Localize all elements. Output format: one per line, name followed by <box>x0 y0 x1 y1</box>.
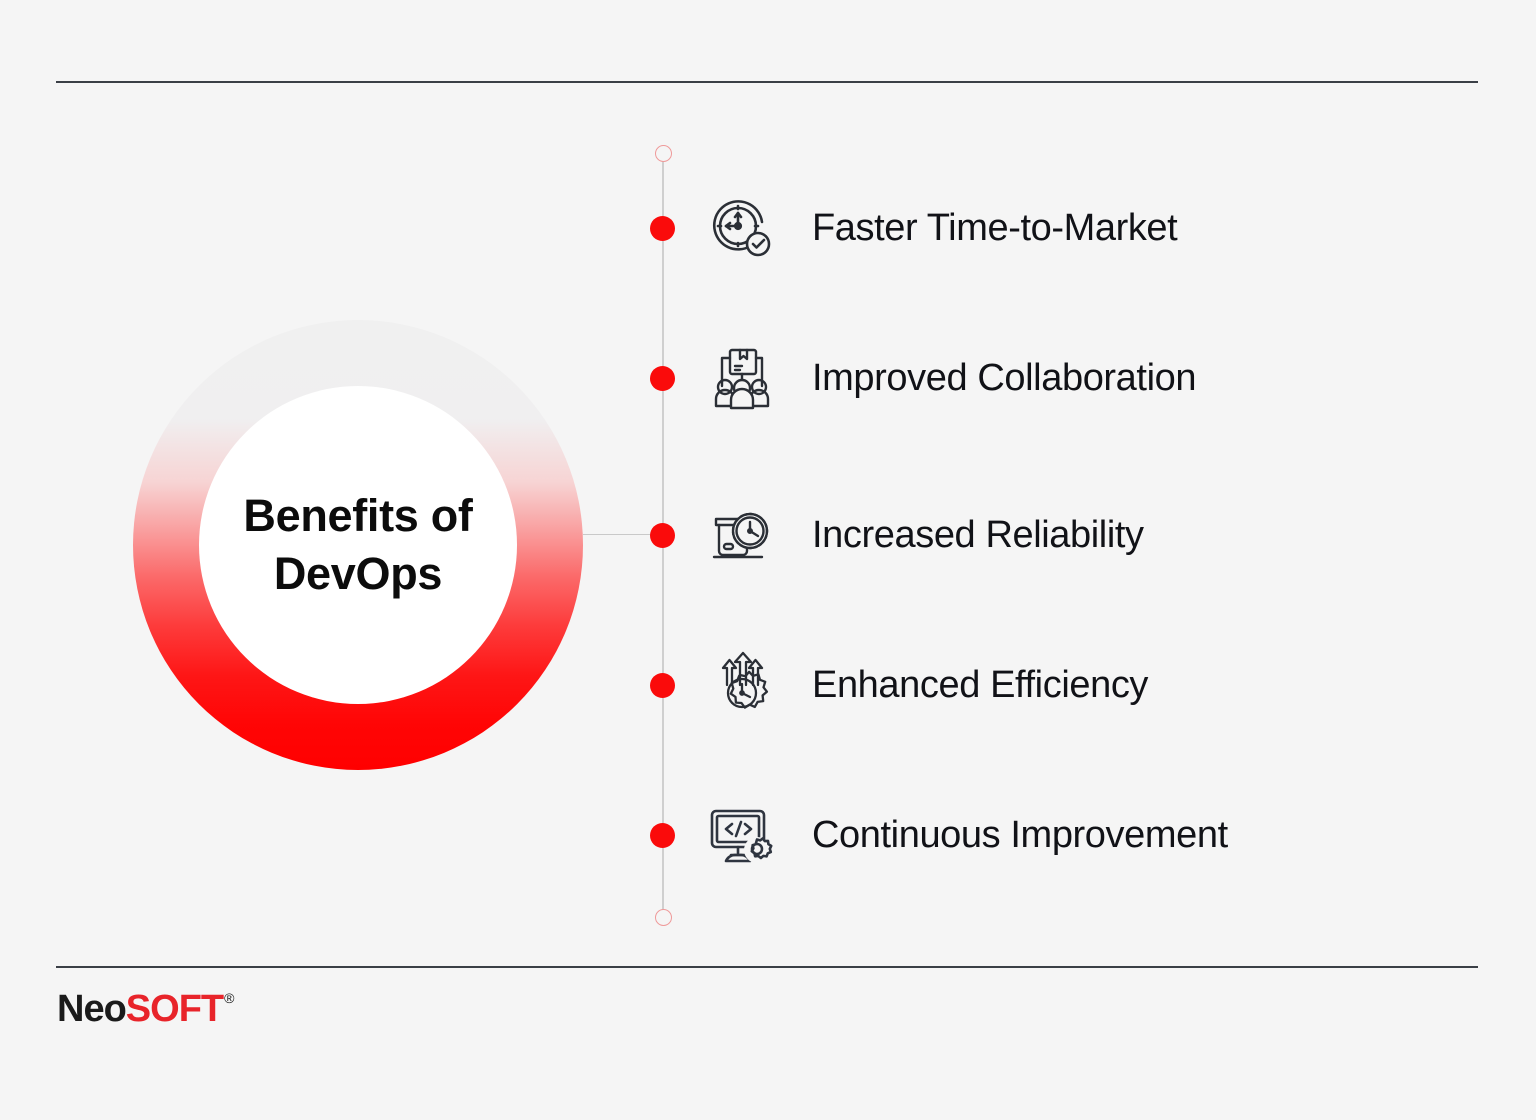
team-package-icon <box>700 338 780 418</box>
benefit-row: Improved Collaboration <box>700 330 1196 426</box>
infographic-slide: Benefits of DevOps <box>0 0 1536 1120</box>
gear-clock-arrows-icon <box>700 645 780 725</box>
neosoft-logo: Neo SOFT ® <box>57 988 233 1031</box>
timeline-dot <box>650 216 675 241</box>
benefit-row: Enhanced Efficiency <box>700 637 1148 733</box>
benefit-row: Faster Time-to-Market <box>700 180 1177 276</box>
benefit-row: Continuous Improvement <box>700 787 1228 883</box>
center-donut: Benefits of DevOps <box>133 320 583 770</box>
timeline-dot <box>650 673 675 698</box>
donut-inner-circle: Benefits of DevOps <box>199 386 517 704</box>
benefit-label: Continuous Improvement <box>812 814 1228 857</box>
timeline-dot <box>650 366 675 391</box>
benefit-label: Increased Reliability <box>812 514 1144 557</box>
bottom-divider-rule <box>56 966 1478 968</box>
logo-neo-text: Neo <box>57 988 126 1031</box>
center-title-line2: DevOps <box>243 545 472 603</box>
logo-soft-text: SOFT <box>126 988 223 1031</box>
monitor-code-gear-icon <box>700 795 780 875</box>
benefit-label: Improved Collaboration <box>812 357 1196 400</box>
top-divider-rule <box>56 81 1478 83</box>
timeline-cap-bottom-icon <box>655 909 672 926</box>
box-clock-icon <box>700 495 780 575</box>
timeline-dot <box>650 523 675 548</box>
center-title: Benefits of DevOps <box>243 487 472 602</box>
center-title-line1: Benefits of <box>243 487 472 545</box>
timeline-cap-top-icon <box>655 145 672 162</box>
logo-registered-mark: ® <box>224 990 233 1006</box>
benefit-label: Enhanced Efficiency <box>812 664 1148 707</box>
timeline-dot <box>650 823 675 848</box>
benefit-label: Faster Time-to-Market <box>812 207 1177 250</box>
benefit-row: Increased Reliability <box>700 487 1144 583</box>
clock-arrow-check-icon <box>700 188 780 268</box>
